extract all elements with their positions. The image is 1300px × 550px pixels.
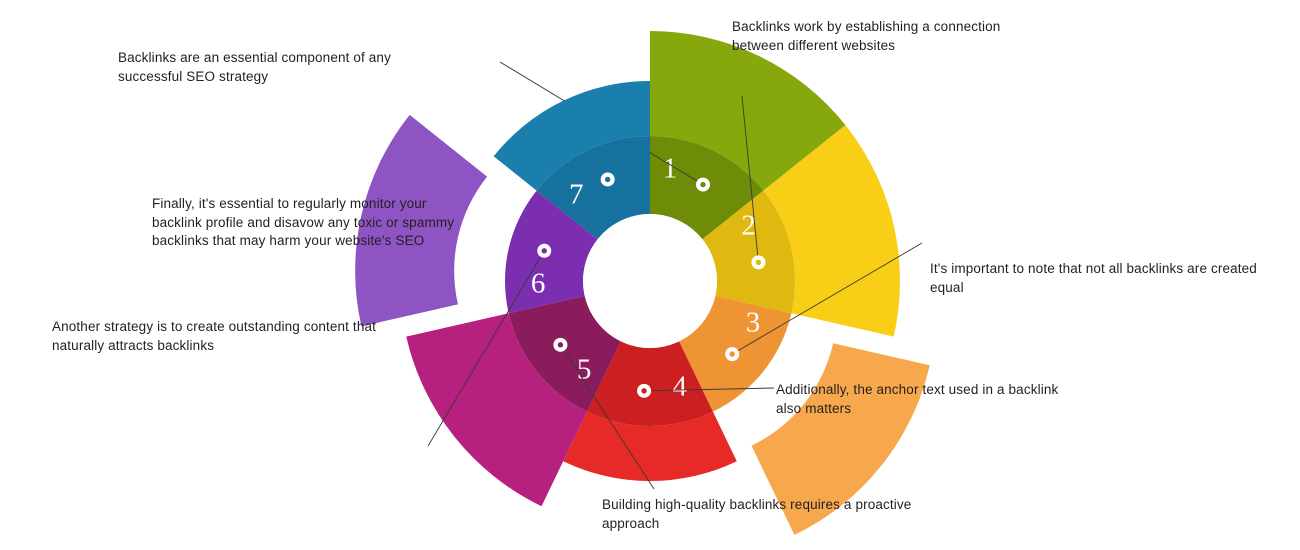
segment-3-marker-hole [729,351,734,356]
segment-6-marker-hole [542,248,547,253]
segment-4-marker-hole [641,388,646,393]
callout-2: Backlinks work by establishing a connect… [732,18,1052,55]
callout-7: Finally, it's essential to regularly mon… [152,195,477,251]
callout-3: It's important to note that not all back… [930,260,1260,297]
segment-1-marker-hole [700,182,705,187]
segment-7[interactable]: 7 [494,81,650,239]
segment-5-number: 5 [577,353,592,385]
segment-3-number: 3 [746,307,761,339]
segment-7-number: 7 [569,178,584,210]
segment-7-marker-hole [605,177,610,182]
callout-4: Additionally, the anchor text used in a … [776,381,1086,418]
segment-1-number: 1 [663,152,678,184]
callout-5: Building high-quality backlinks requires… [602,496,912,533]
segment-4-number: 4 [673,371,688,403]
segment-2-marker-hole [756,260,761,265]
callout-6: Another strategy is to create outstandin… [52,318,382,355]
segment-6-number: 6 [531,268,546,300]
segment-5-marker-hole [558,342,563,347]
infographic-canvas: 1234567 Backlinks are an essential compo… [0,0,1300,550]
callout-1: Backlinks are an essential component of … [118,49,448,86]
center-hole [583,214,717,348]
